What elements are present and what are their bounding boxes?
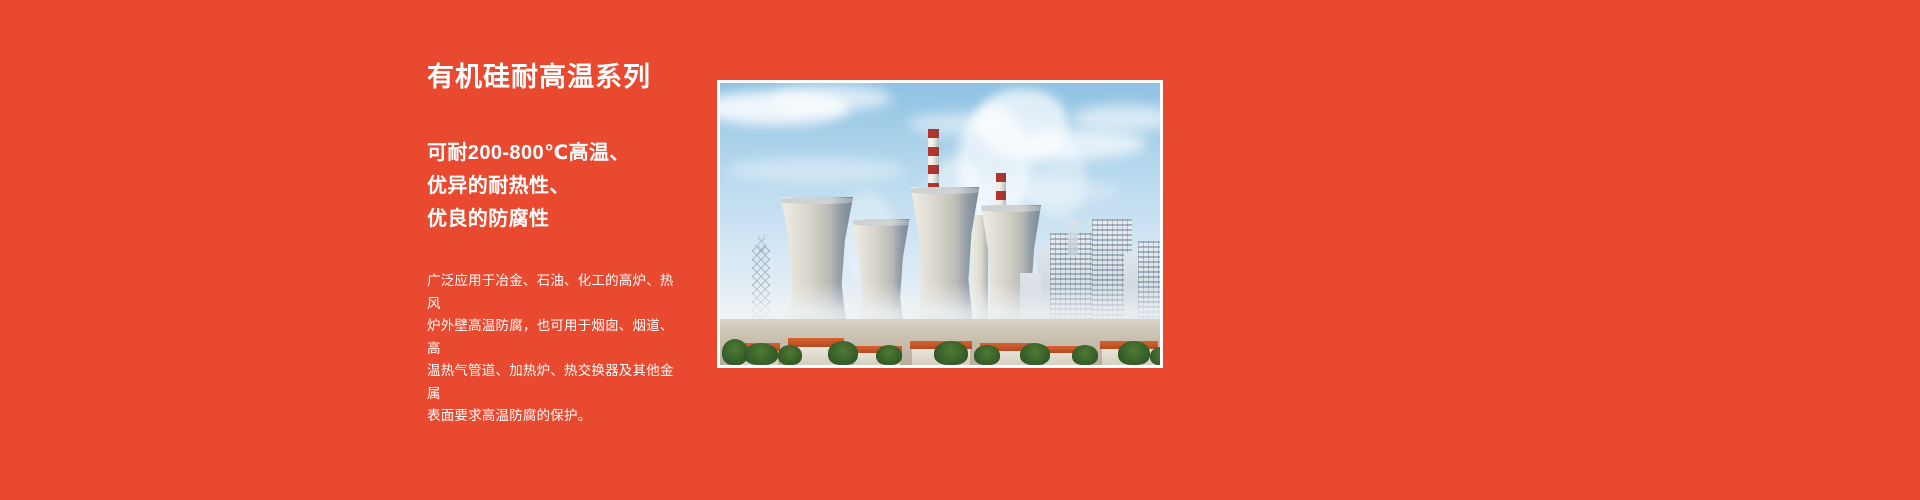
description-line-1: 广泛应用于冶金、石油、化工的高炉、热风	[427, 270, 679, 315]
cloud	[726, 157, 906, 183]
description-line-3: 温热气管道、加热炉、热交换器及其他金属	[427, 360, 679, 405]
subhead-line-3: 优良的防腐性	[427, 203, 692, 236]
cloud	[772, 85, 892, 111]
tree	[1072, 345, 1098, 365]
promo-banner: 有机硅耐高温系列 可耐200-800℃高温、 优异的耐热性、 优良的防腐性 广泛…	[0, 0, 1920, 500]
tree	[876, 345, 902, 365]
tree	[934, 341, 968, 365]
plant-building	[1068, 219, 1078, 255]
tree	[974, 345, 1000, 365]
subhead-line-1: 可耐200-800℃高温、	[427, 137, 692, 170]
description-line-4: 表面要求高温防腐的保护。	[427, 405, 679, 428]
text-column: 有机硅耐高温系列 可耐200-800℃高温、 优异的耐热性、 优良的防腐性 广泛…	[427, 62, 692, 428]
tree	[778, 345, 802, 365]
tree	[1150, 347, 1160, 365]
subhead-line-2: 优异的耐热性、	[427, 170, 692, 203]
transmission-pylon	[758, 235, 765, 255]
tree	[828, 341, 858, 365]
tree	[1118, 341, 1150, 365]
description-line-2: 炉外壁高温防腐，也可用于烟囱、烟道、高	[427, 315, 679, 360]
description-paragraph: 广泛应用于冶金、石油、化工的高炉、热风 炉外壁高温防腐，也可用于烟囱、烟道、高 …	[427, 270, 679, 428]
tree	[744, 343, 778, 365]
subhead-block: 可耐200-800℃高温、 优异的耐热性、 优良的防腐性	[427, 137, 692, 236]
tree	[1020, 343, 1050, 365]
page-title: 有机硅耐高温系列	[427, 62, 692, 93]
product-photo	[717, 80, 1163, 368]
power-plant-image	[720, 83, 1160, 365]
